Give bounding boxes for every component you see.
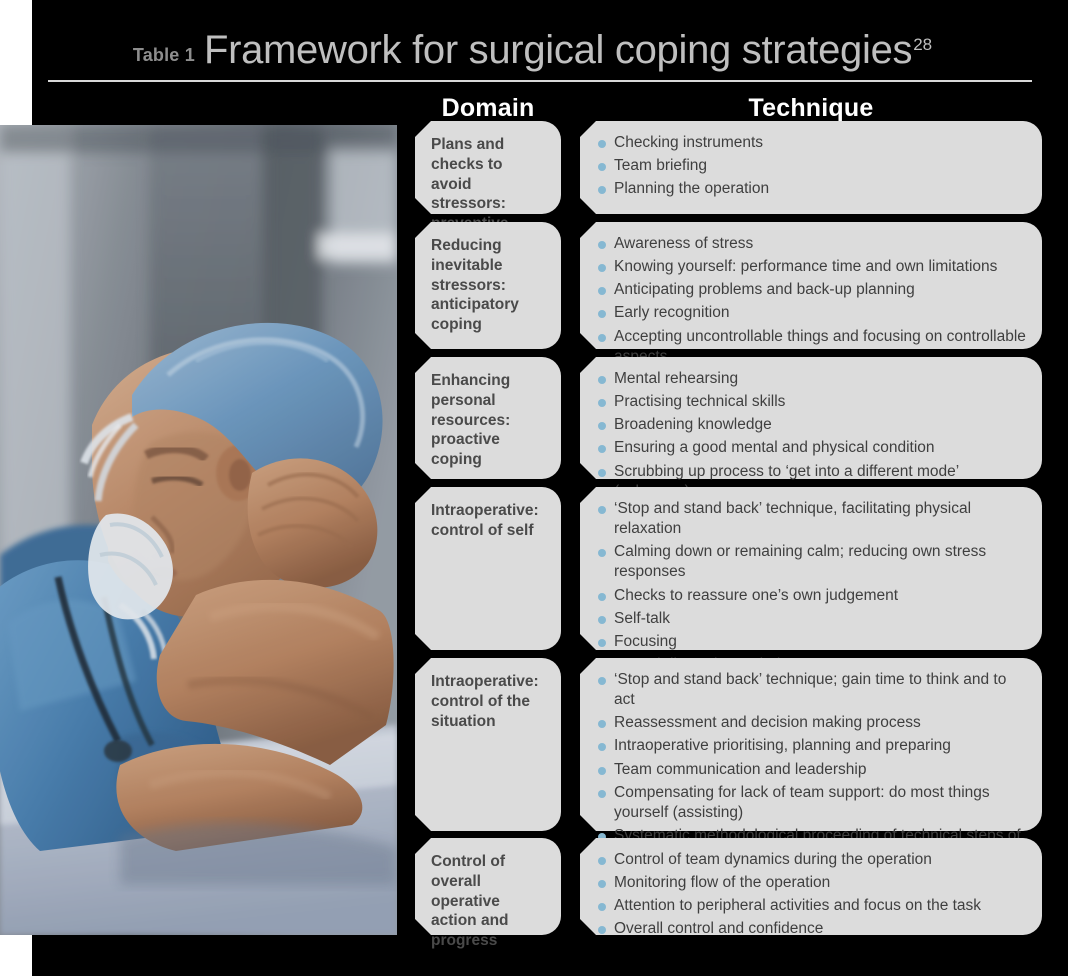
technique-text: ‘Stop and stand back’ technique; gain ti… (614, 671, 1006, 708)
technique-text: Overall control and confidence (614, 920, 823, 937)
bullet-icon (598, 287, 606, 295)
technique-text: Focusing (614, 633, 677, 650)
bullet-icon (598, 445, 606, 453)
technique-item: ‘Stop and stand back’ technique, facilit… (598, 499, 1026, 539)
technique-item: Control of team dynamics during the oper… (598, 850, 1026, 870)
technique-item: Team communication and leadership (598, 760, 1026, 780)
technique-text: Team communication and leadership (614, 761, 866, 778)
technique-text: Team briefing (614, 157, 707, 174)
domain-cell: Control of overall operative action and … (415, 838, 561, 935)
bullet-icon (598, 422, 606, 430)
technique-text: Early recognition (614, 304, 729, 321)
bullet-icon (598, 549, 606, 557)
bullet-icon (598, 140, 606, 148)
bullet-icon (598, 376, 606, 384)
domain-label: Control of overall operative action and … (415, 838, 561, 961)
technique-item: Reassessment and decision making process (598, 713, 1026, 733)
bullet-icon (598, 310, 606, 318)
technique-text: Self-talk (614, 610, 670, 627)
bullet-icon (598, 677, 606, 685)
technique-item: Checking instruments (598, 133, 1026, 153)
technique-text: Checks to reassure one’s own judgement (614, 587, 898, 604)
technique-text: Awareness of stress (614, 235, 753, 252)
bullet-icon (598, 880, 606, 888)
technique-item: Attention to peripheral activities and f… (598, 896, 1026, 916)
technique-text: Monitoring flow of the operation (614, 874, 830, 891)
technique-list: Awareness of stressKnowing yourself: per… (598, 234, 1026, 367)
technique-text: Practising technical skills (614, 393, 785, 410)
bullet-icon (598, 616, 606, 624)
technique-item: Overall control and confidence (598, 919, 1026, 939)
technique-item: Monitoring flow of the operation (598, 873, 1026, 893)
technique-text: Knowing yourself: performance time and o… (614, 258, 997, 275)
domain-cell: Plans and checks to avoid stressors: pre… (415, 121, 561, 214)
bullet-icon (598, 767, 606, 775)
technique-item: Focusing (598, 632, 1026, 652)
bullet-icon (598, 186, 606, 194)
domain-label: Enhancing personal resources: proactive … (415, 357, 561, 480)
bullet-icon (598, 334, 606, 342)
technique-text: Anticipating problems and back-up planni… (614, 281, 915, 298)
domain-cell: Enhancing personal resources: proactive … (415, 357, 561, 479)
technique-text: Mental rehearsing (614, 370, 738, 387)
domain-label: Intraoperative: control of self (415, 487, 561, 551)
technique-item: Mental rehearsing (598, 369, 1026, 389)
bullet-icon (598, 163, 606, 171)
technique-text: Planning the operation (614, 180, 769, 197)
technique-item: Team briefing (598, 156, 1026, 176)
technique-cell: Mental rehearsingPractising technical sk… (580, 357, 1042, 479)
technique-text: Checking instruments (614, 134, 763, 151)
technique-item: Broadening knowledge (598, 415, 1026, 435)
technique-text: ‘Stop and stand back’ technique, facilit… (614, 500, 971, 537)
technique-cell: Awareness of stressKnowing yourself: per… (580, 222, 1042, 349)
technique-text: Reassessment and decision making process (614, 714, 921, 731)
bullet-icon (598, 743, 606, 751)
technique-item: Practising technical skills (598, 392, 1026, 412)
technique-cell: ‘Stop and stand back’ technique; gain ti… (580, 658, 1042, 831)
technique-list: Mental rehearsingPractising technical sk… (598, 369, 1026, 502)
technique-text: Calming down or remaining calm; reducing… (614, 543, 986, 580)
domain-label: Reducing inevitable stressors: anticipat… (415, 222, 561, 345)
domain-cell: Intraoperative: control of the situation (415, 658, 561, 831)
technique-list: Checking instrumentsTeam briefingPlannin… (598, 133, 1026, 199)
domain-label: Intraoperative: control of the situation (415, 658, 561, 741)
bullet-icon (598, 857, 606, 865)
technique-item: Self-talk (598, 609, 1026, 629)
technique-text: Compensating for lack of team support: d… (614, 784, 990, 821)
technique-list: Control of team dynamics during the oper… (598, 850, 1026, 940)
technique-text: Control of team dynamics during the oper… (614, 851, 932, 868)
bullet-icon (598, 469, 606, 477)
technique-cell: ‘Stop and stand back’ technique, facilit… (580, 487, 1042, 650)
technique-item: Awareness of stress (598, 234, 1026, 254)
technique-item: Checks to reassure one’s own judgement (598, 586, 1026, 606)
technique-text: Ensuring a good mental and physical cond… (614, 439, 935, 456)
bullet-icon (598, 241, 606, 249)
bullet-icon (598, 399, 606, 407)
technique-list-wrap: Checking instrumentsTeam briefingPlannin… (580, 121, 1042, 212)
technique-item: Knowing yourself: performance time and o… (598, 257, 1026, 277)
bullet-icon (598, 926, 606, 934)
technique-cell: Checking instrumentsTeam briefingPlannin… (580, 121, 1042, 214)
coping-framework-table: Plans and checks to avoid stressors: pre… (0, 0, 1068, 976)
bullet-icon (598, 506, 606, 514)
domain-cell: Reducing inevitable stressors: anticipat… (415, 222, 561, 349)
technique-text: Broadening knowledge (614, 416, 772, 433)
technique-item: Early recognition (598, 303, 1026, 323)
technique-item: Intraoperative prioritising, planning an… (598, 736, 1026, 756)
bullet-icon (598, 720, 606, 728)
bullet-icon (598, 790, 606, 798)
bullet-icon (598, 593, 606, 601)
technique-list: ‘Stop and stand back’ technique; gain ti… (598, 670, 1026, 866)
bullet-icon (598, 264, 606, 272)
technique-list-wrap: Control of team dynamics during the oper… (580, 838, 1042, 953)
technique-cell: Control of team dynamics during the oper… (580, 838, 1042, 935)
bullet-icon (598, 903, 606, 911)
technique-text: Attention to peripheral activities and f… (614, 897, 981, 914)
technique-item: ‘Stop and stand back’ technique; gain ti… (598, 670, 1026, 710)
domain-cell: Intraoperative: control of self (415, 487, 561, 650)
technique-item: Calming down or remaining calm; reducing… (598, 542, 1026, 582)
bullet-icon (598, 639, 606, 647)
technique-item: Ensuring a good mental and physical cond… (598, 438, 1026, 458)
technique-text: Intraoperative prioritising, planning an… (614, 737, 951, 754)
table-figure: Table 1 Framework for surgical coping st… (0, 0, 1068, 976)
technique-item: Compensating for lack of team support: d… (598, 783, 1026, 823)
technique-item: Anticipating problems and back-up planni… (598, 280, 1026, 300)
technique-item: Planning the operation (598, 179, 1026, 199)
